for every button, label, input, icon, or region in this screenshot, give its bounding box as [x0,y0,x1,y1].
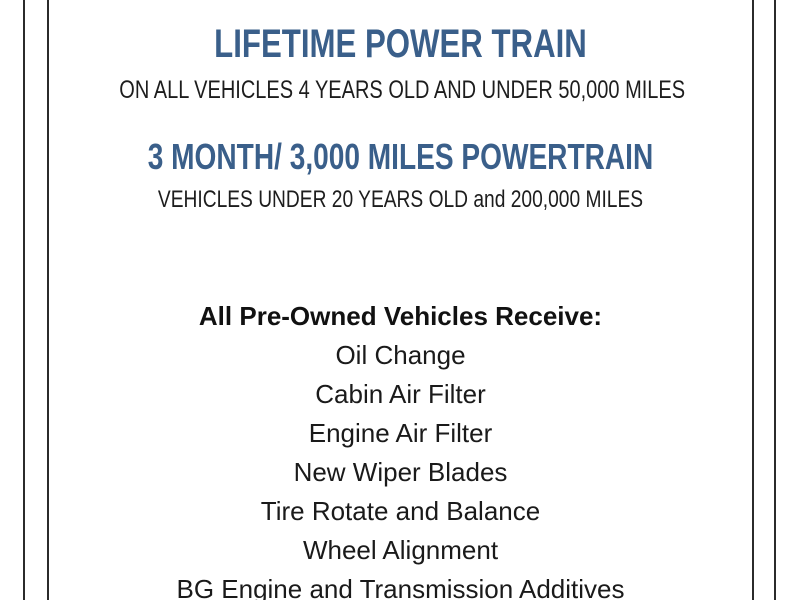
warranty-title-lifetime: LIFETIME POWER TRAIN [126,24,674,64]
flyer-page: LIFETIME POWER TRAIN ON ALL VEHICLES 4 Y… [0,0,800,600]
border-rule-right-inner [752,0,754,600]
warranty-block-three-month: 3 MONTH/ 3,000 MILES POWERTRAIN VEHICLES… [49,139,752,212]
service-item: New Wiper Blades [49,453,752,492]
services-heading: All Pre-Owned Vehicles Receive: [49,297,752,336]
border-rule-right-outer [774,0,776,600]
flyer-content: LIFETIME POWER TRAIN ON ALL VEHICLES 4 Y… [49,0,752,600]
service-item: Engine Air Filter [49,414,752,453]
border-rule-left-outer [23,0,25,600]
service-item: Oil Change [49,336,752,375]
service-item: BG Engine and Transmission Additives [49,570,752,600]
warranty-subtitle-lifetime: ON ALL VEHICLES 4 YEARS OLD AND UNDER 50… [119,78,681,103]
service-item: Wheel Alignment [49,531,752,570]
warranty-subtitle-three-month: VEHICLES UNDER 20 YEARS OLD and 200,000 … [119,188,681,212]
warranty-block-lifetime: LIFETIME POWER TRAIN ON ALL VEHICLES 4 Y… [49,24,752,103]
service-item: Cabin Air Filter [49,375,752,414]
warranty-title-three-month: 3 MONTH/ 3,000 MILES POWERTRAIN [126,139,674,175]
service-item: Tire Rotate and Balance [49,492,752,531]
services-section: All Pre-Owned Vehicles Receive: Oil Chan… [49,297,752,600]
